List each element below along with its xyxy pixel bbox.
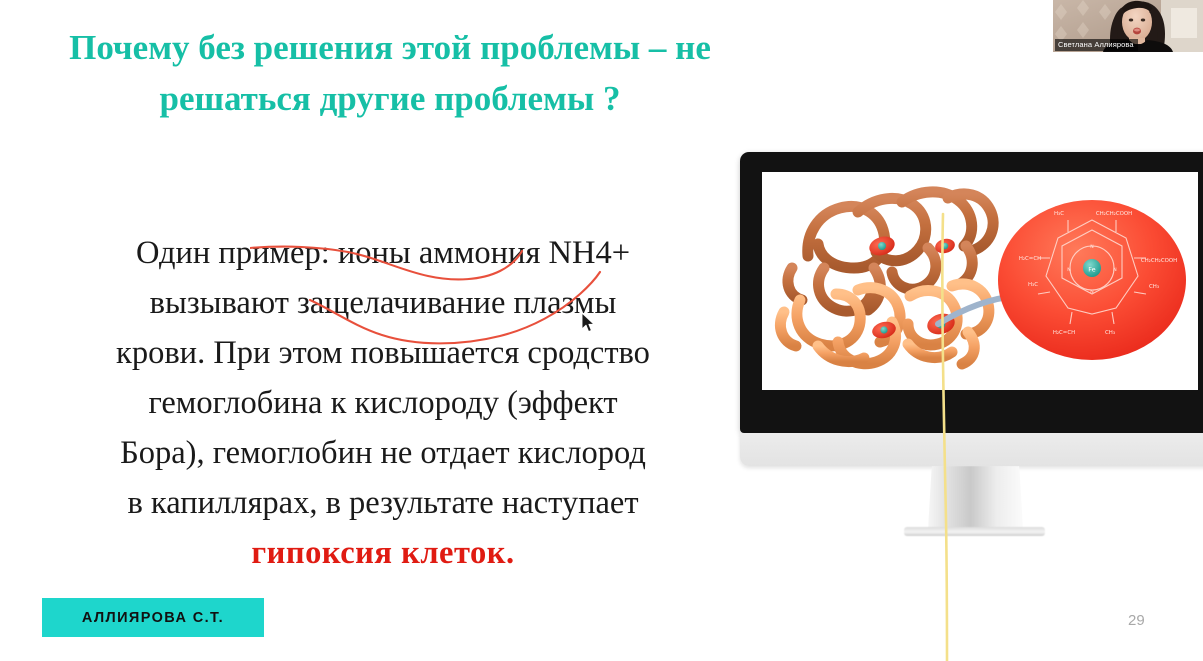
monitor-frame: Fe H₃C CH₂CH₂COOH H₂C=CH H₃C CH₂CH₂COOH … [740, 152, 1203, 433]
author-badge-label: АЛЛИЯРОВА С.Т. [82, 610, 224, 626]
author-badge: АЛЛИЯРОВА С.Т. [42, 598, 264, 637]
monitor-stand-neck [928, 466, 1023, 529]
svg-text:CH₂CH₂COOH: CH₂CH₂COOH [1096, 211, 1132, 217]
monitor-chin [740, 433, 1203, 466]
webcam-participant-name: Светлана Аллиярова [1055, 39, 1138, 51]
svg-text:H₃C: H₃C [1028, 282, 1038, 288]
svg-text:N: N [1113, 267, 1116, 273]
webcam-tile[interactable]: Светлана Аллиярова [1053, 0, 1203, 52]
svg-text:N: N [1067, 267, 1070, 273]
fe-label: Fe [1088, 266, 1095, 274]
svg-text:H₂C=CH: H₂C=CH [1053, 330, 1075, 336]
body-line-5: Бора), гемоглобин не отдает кислород [38, 428, 728, 478]
svg-text:CH₂CH₂COOH: CH₂CH₂COOH [1141, 258, 1177, 264]
body-line-1: Один пример: ионы аммония NH4+ [38, 228, 728, 278]
page-number: 29 [1128, 612, 1145, 629]
monitor-screen: Fe H₃C CH₂CH₂COOH H₂C=CH H₃C CH₂CH₂COOH … [762, 172, 1198, 390]
body-line-3: крови. При этом повышается сродство [38, 328, 728, 378]
svg-text:N: N [1090, 244, 1093, 250]
body-highlight-hypoxia: гипоксия клеток. [38, 528, 728, 578]
hemoglobin-structure-diagram: Fe H₃C CH₂CH₂COOH H₂C=CH H₃C CH₂CH₂COOH … [762, 172, 1198, 390]
slide-title-line-1: Почему без решения этой [69, 28, 471, 67]
presentation-slide: Почему без решения этой проблемы – не ре… [0, 0, 1203, 661]
svg-text:CH₃: CH₃ [1105, 330, 1115, 336]
body-line-4: гемоглобина к кислороду (эффект [38, 378, 728, 428]
svg-text:N: N [1090, 289, 1093, 295]
body-line-2: вызывают защелачивание плазмы [38, 278, 728, 328]
slide-title: Почему без решения этой проблемы – не ре… [60, 22, 720, 124]
svg-text:H₃C: H₃C [1054, 211, 1064, 217]
monitor-stand-base [904, 527, 1045, 536]
svg-text:H₂C=CH: H₂C=CH [1019, 256, 1041, 262]
svg-text:CH₃: CH₃ [1149, 284, 1159, 290]
slide-title-line-3: проблемы ? [434, 79, 620, 118]
red-blood-cell [998, 200, 1186, 360]
body-line-6: в капиллярах, в результате наступает [38, 478, 728, 528]
slide-body-text: Один пример: ионы аммония NH4+ вызывают … [38, 228, 728, 578]
